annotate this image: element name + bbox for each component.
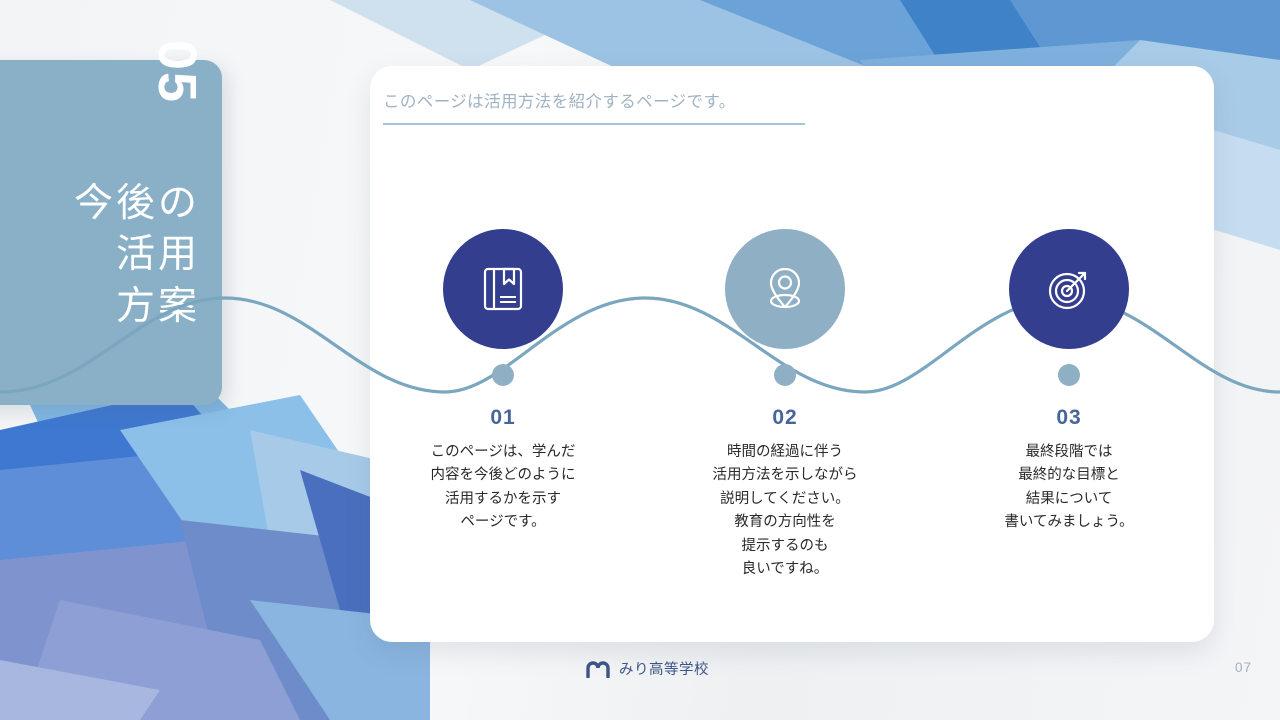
slide-canvas: 05 今後の 活用 方案 このページは活用方法を紹介するページです。 (0, 0, 1280, 720)
step-01-line-4: ページです。 (385, 511, 621, 534)
section-title-line-2: 活用 (74, 229, 200, 280)
step-02-wave-dot (774, 364, 796, 386)
step-01-icon-circle[interactable] (443, 229, 563, 349)
step-01-line-3: 活用するかを示す (385, 488, 621, 511)
step-01-wave-dot (492, 364, 514, 386)
book-bookmark-icon (474, 260, 532, 318)
step-01-number: 01 (385, 406, 621, 430)
step-03-line-4: 書いてみましょう。 (951, 511, 1187, 534)
section-number: 05 (150, 40, 204, 104)
step-03-line-1: 最終段階では (951, 441, 1187, 464)
target-arrow-icon (1040, 260, 1098, 318)
school-name: みり高等学校 (619, 658, 709, 679)
step-02-line-3: 説明してください。 (667, 488, 903, 511)
step-02-line-6: 良いですね。 (667, 558, 903, 581)
step-03-line-2: 最終的な目標と (951, 464, 1187, 487)
step-02-number: 02 (667, 406, 903, 430)
step-03-icon-circle[interactable] (1009, 229, 1129, 349)
step-02-line-5: 提示するのも (667, 535, 903, 558)
step-01-body: このページは、学んだ 内容を今後どのように 活用するかを示す ページです。 (385, 441, 621, 535)
section-title-line-1: 今後の (74, 178, 200, 229)
step-02-line-2: 活用方法を示しながら (667, 464, 903, 487)
location-pin-icon (756, 260, 814, 318)
step-03-body: 最終段階では 最終的な目標と 結果について 書いてみましょう。 (951, 441, 1187, 535)
step-03-number: 03 (951, 406, 1187, 430)
step-01-line-1: このページは、学んだ (385, 441, 621, 464)
steps-row: 01 このページは、学んだ 内容を今後どのように 活用するかを示す ページです。… (370, 66, 1214, 642)
step-02-line-1: 時間の経過に伴う (667, 441, 903, 464)
step-03-line-3: 結果について (951, 488, 1187, 511)
footer-brand: みり高等学校 (586, 658, 709, 679)
step-03-wave-dot (1058, 364, 1080, 386)
step-01-line-2: 内容を今後どのように (385, 464, 621, 487)
step-02-line-4: 教育の方向性を (667, 511, 903, 534)
m-arch-logo-icon (586, 660, 610, 678)
page-number: 07 (1235, 660, 1252, 675)
step-02-body: 時間の経過に伴う 活用方法を示しながら 説明してください。 教育の方向性を 提示… (667, 441, 903, 582)
step-02-icon-circle[interactable] (725, 229, 845, 349)
